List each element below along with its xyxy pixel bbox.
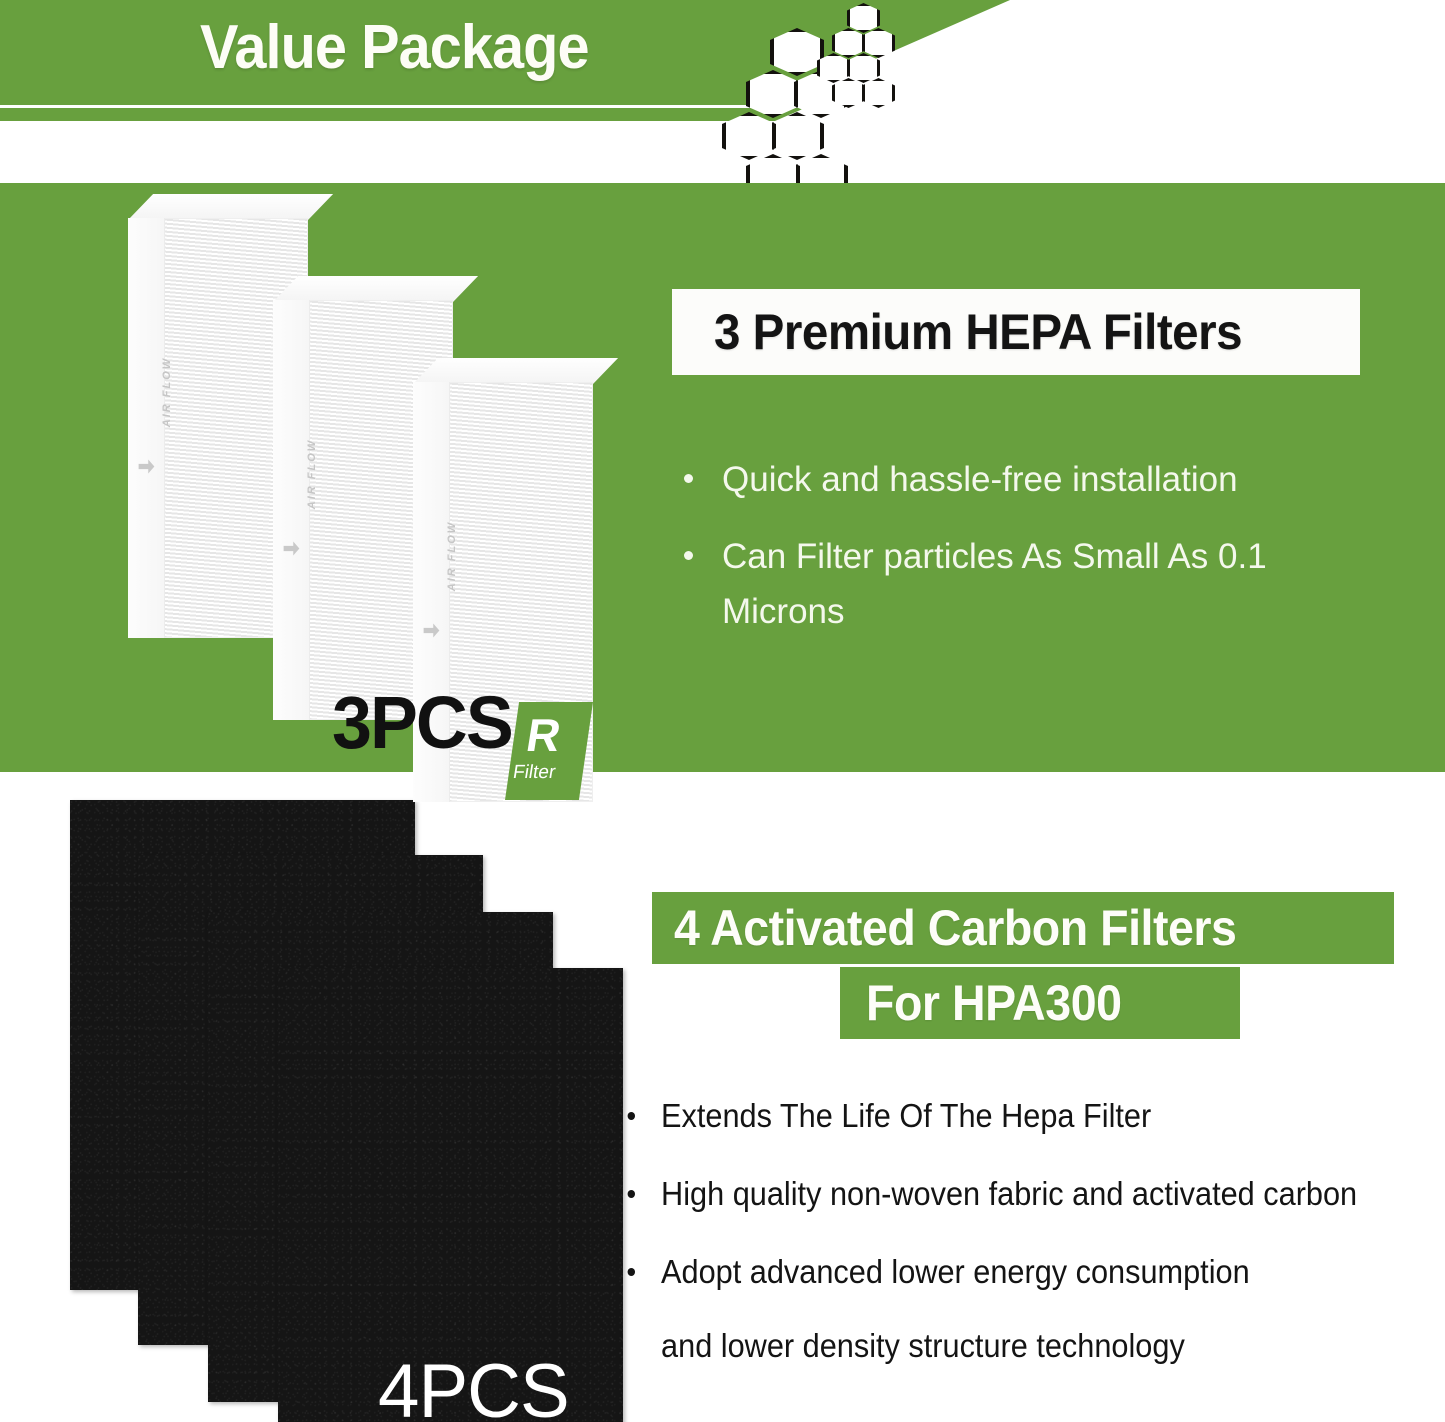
list-item-text: Adopt advanced lower energy consumption bbox=[661, 1253, 1250, 1290]
bullet-dot-icon bbox=[684, 551, 693, 560]
bullet-dot-icon bbox=[628, 1190, 635, 1198]
bullet-dot-icon bbox=[628, 1268, 635, 1276]
air-flow-arrow-icon bbox=[281, 538, 302, 559]
carbon-title-banner-secondary: For HPA300 bbox=[840, 967, 1240, 1039]
header-stripe-shape bbox=[0, 108, 1445, 121]
carbon-section-title-line1: 4 Activated Carbon Filters bbox=[674, 899, 1236, 957]
carbon-sheet: 4PCS bbox=[278, 968, 623, 1422]
list-item: Can Filter particles As Small As 0.1 Mic… bbox=[676, 529, 1336, 639]
air-flow-label: AIR FLOW bbox=[306, 424, 318, 524]
hexagon-cell bbox=[862, 28, 895, 58]
bullet-dot-icon bbox=[628, 1112, 635, 1120]
air-flow-arrow-icon bbox=[421, 620, 442, 641]
list-item-text: High quality non-woven fabric and activa… bbox=[661, 1175, 1357, 1212]
hexagon-cell bbox=[770, 28, 824, 76]
r-filter-badge: R Filter bbox=[505, 702, 593, 800]
hepa-title-box: 3 Premium HEPA Filters bbox=[672, 289, 1360, 375]
filter-side-panel bbox=[128, 218, 165, 638]
air-flow-label: AIR FLOW bbox=[446, 506, 458, 606]
list-item: Quick and hassle-free installation bbox=[676, 452, 1336, 507]
filter-top-face bbox=[413, 358, 618, 384]
filter-top-face bbox=[128, 194, 333, 220]
filter-top-face bbox=[273, 276, 478, 302]
hexagon-cell bbox=[817, 53, 850, 83]
hexagon-cell bbox=[770, 112, 824, 160]
r-filter-label: Filter bbox=[511, 762, 557, 784]
hexagon-cell bbox=[847, 3, 880, 33]
list-item-text-continuation: and lower density structure technology bbox=[661, 1322, 1385, 1370]
hepa-quantity-label: 3PCS bbox=[332, 680, 512, 765]
filter-side-panel bbox=[273, 300, 310, 720]
air-flow-label: AIR FLOW bbox=[161, 342, 173, 442]
list-item-text: Can Filter particles As Small As 0.1 Mic… bbox=[722, 537, 1267, 631]
hexagon-cell bbox=[746, 70, 800, 118]
hepa-section-title: 3 Premium HEPA Filters bbox=[714, 303, 1242, 361]
list-item-text: Quick and hassle-free installation bbox=[722, 460, 1238, 499]
bullet-dot-icon bbox=[684, 474, 693, 483]
honeycomb-decoration-small bbox=[821, 3, 931, 83]
hexagon-cell bbox=[722, 112, 776, 160]
carbon-feature-list: Extends The Life Of The Hepa Filter High… bbox=[622, 1092, 1442, 1370]
r-filter-letter: R bbox=[523, 712, 564, 758]
hexagon-cell bbox=[847, 53, 880, 83]
carbon-title-banner-primary: 4 Activated Carbon Filters bbox=[652, 892, 1394, 964]
product-infographic: Value Package AIR FLOW bbox=[0, 0, 1445, 1422]
hexagon-cell bbox=[832, 28, 865, 58]
list-item: Extends The Life Of The Hepa Filter bbox=[622, 1092, 1385, 1140]
header-banner: Value Package bbox=[0, 0, 1445, 105]
carbon-quantity-label: 4PCS bbox=[378, 1348, 569, 1422]
list-item: High quality non-woven fabric and activa… bbox=[622, 1170, 1385, 1218]
carbon-filter-image: 4PCS bbox=[60, 800, 630, 1410]
air-flow-arrow-icon bbox=[136, 456, 157, 477]
list-item: Adopt advanced lower energy consumption … bbox=[622, 1248, 1385, 1370]
page-title: Value Package bbox=[200, 8, 589, 88]
carbon-section-title-line2: For HPA300 bbox=[866, 974, 1121, 1032]
hepa-filter-image: AIR FLOW AIR FLOW AIR FLOW R bbox=[110, 200, 640, 775]
list-item-text: Extends The Life Of The Hepa Filter bbox=[661, 1097, 1151, 1134]
hepa-feature-list: Quick and hassle-free installation Can F… bbox=[676, 452, 1336, 661]
header-accent-stripe bbox=[0, 108, 1445, 121]
